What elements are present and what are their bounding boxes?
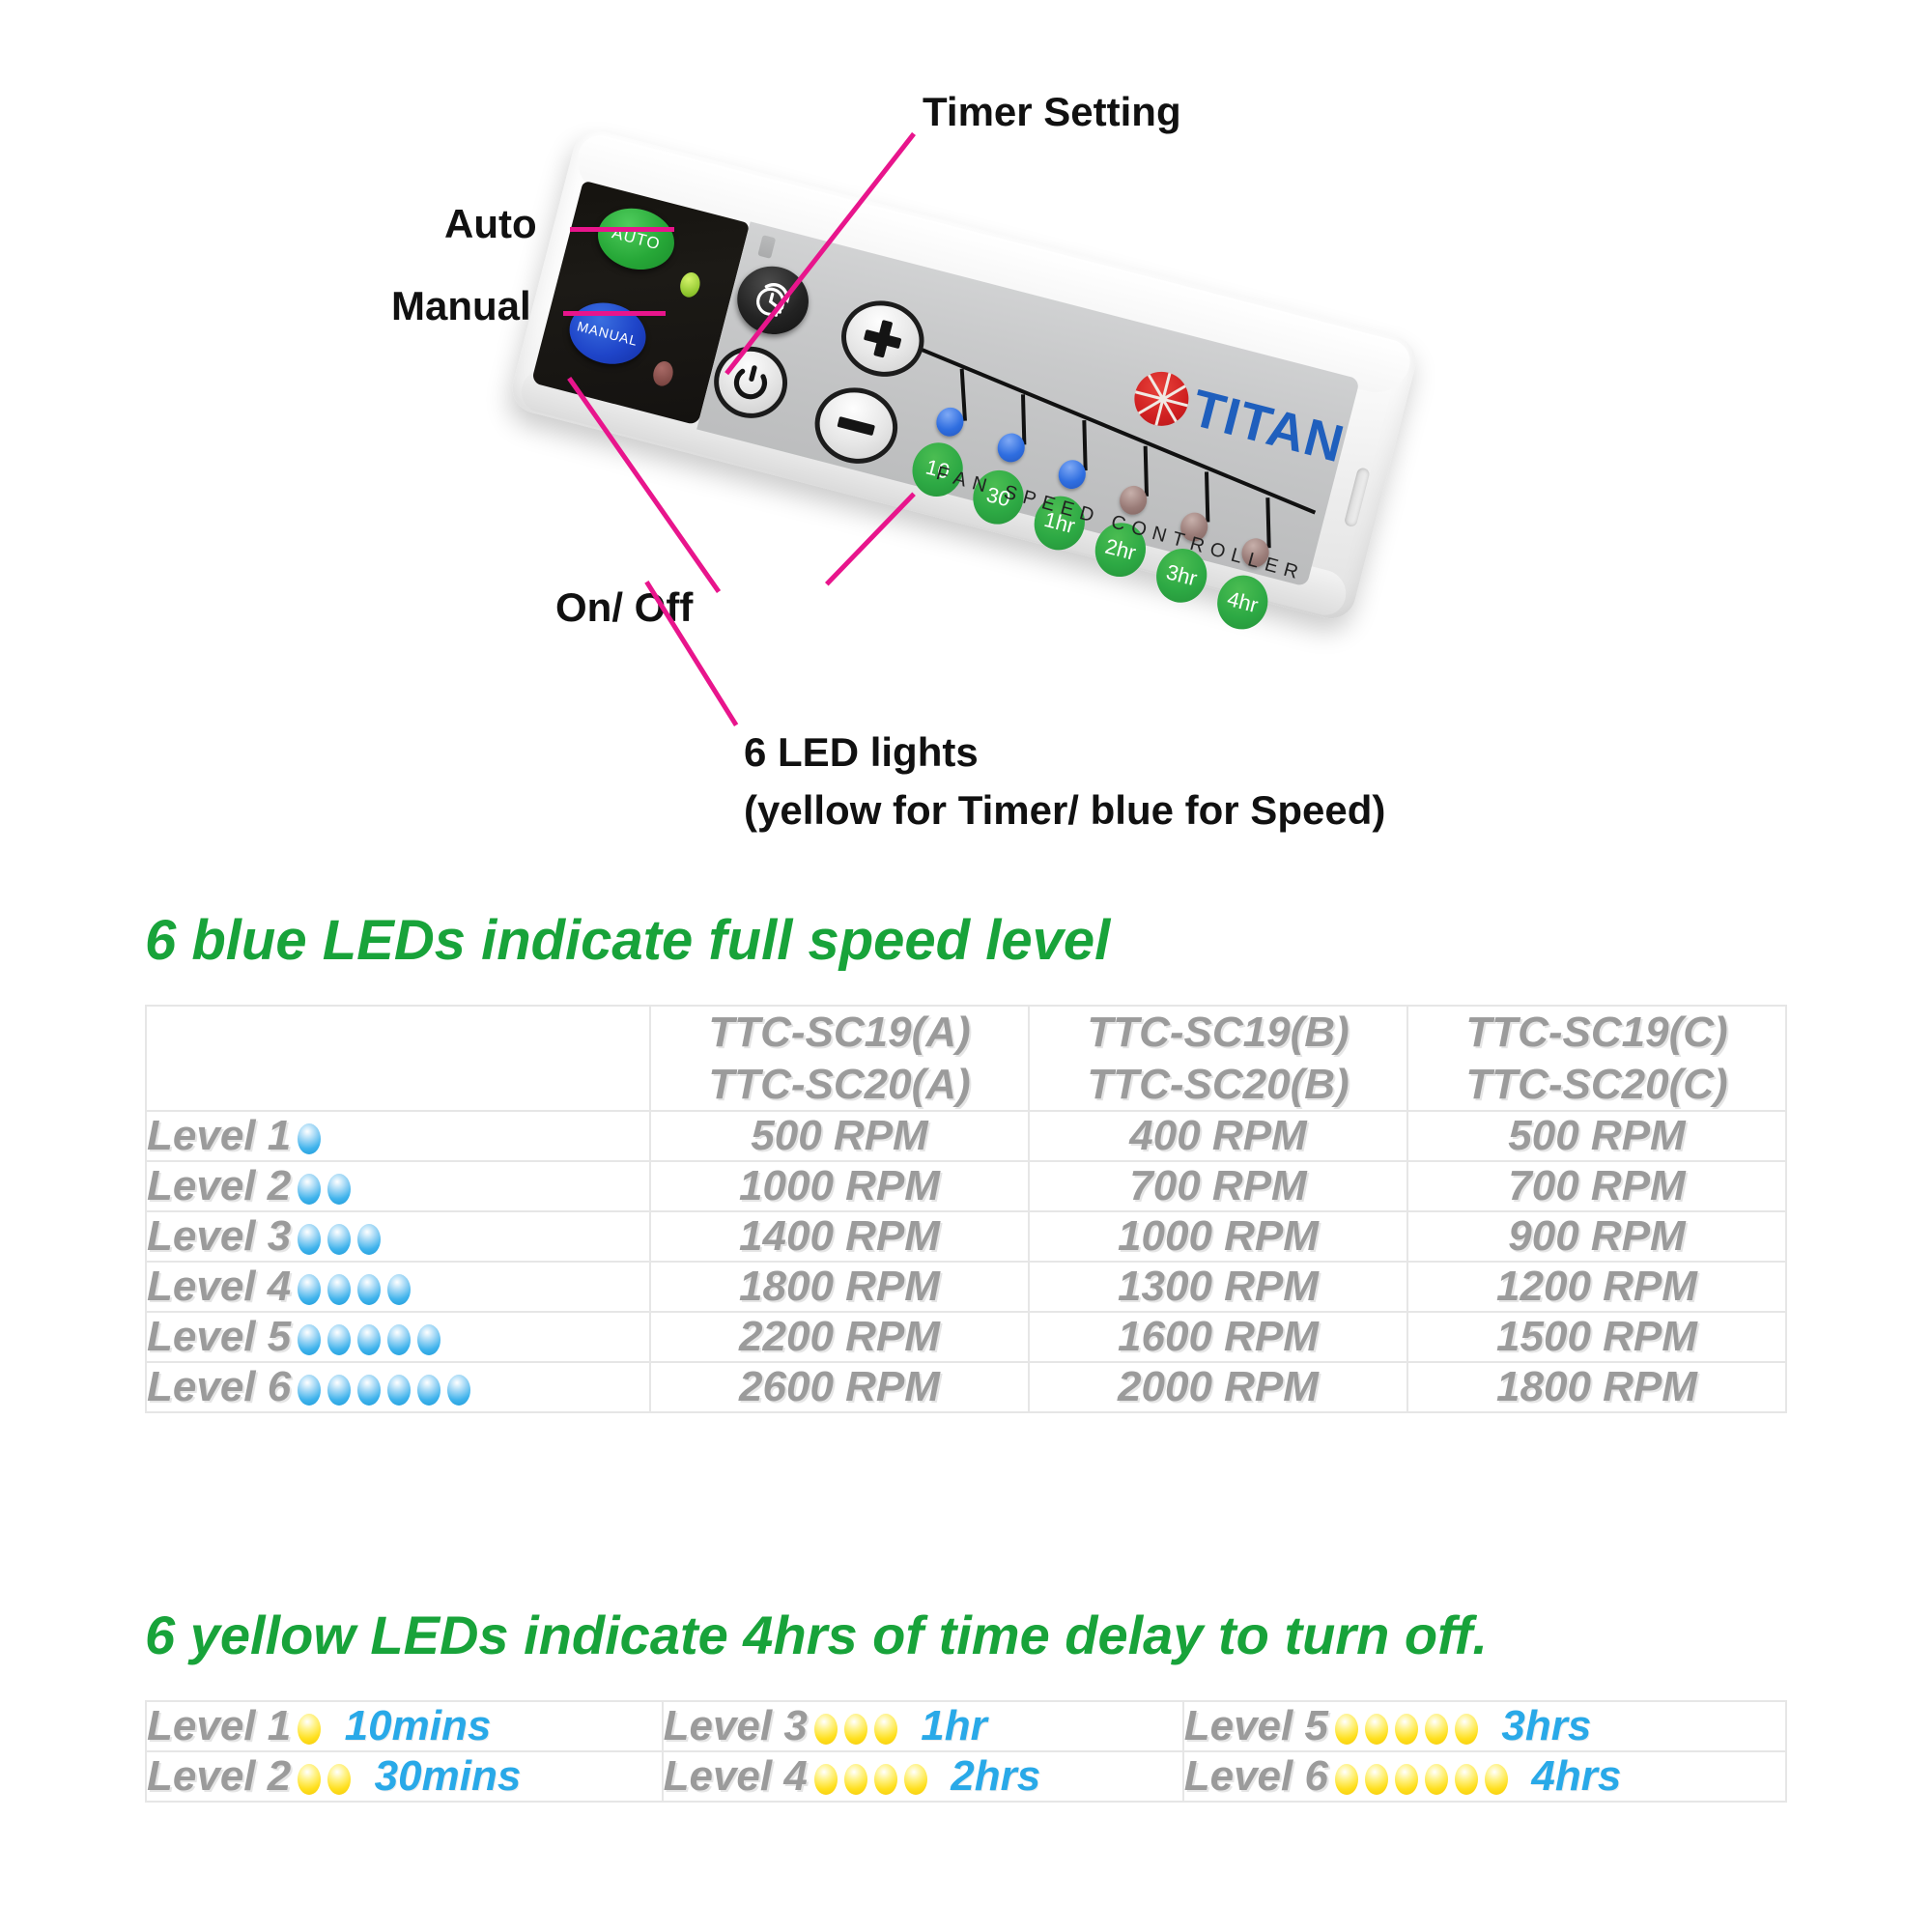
callout-manual: Manual bbox=[391, 283, 531, 329]
timer-level-cell: Level 1 10mins bbox=[146, 1701, 663, 1751]
speed-level-cell: Level 2 bbox=[146, 1161, 650, 1211]
speed-rpm-b: 700 RPM bbox=[1029, 1161, 1407, 1211]
timer-badge-label: 3hr bbox=[1164, 559, 1200, 591]
led-dot bbox=[298, 1714, 321, 1745]
led-dot bbox=[298, 1375, 321, 1406]
speed-level-label: Level 1 bbox=[147, 1112, 291, 1159]
speed-rpm-a: 2200 RPM bbox=[650, 1312, 1029, 1362]
timer-level-cell: Level 4 2hrs bbox=[663, 1751, 1183, 1802]
table-row: Level 21000 RPM700 RPM700 RPM bbox=[146, 1161, 1786, 1211]
lead-line-3 bbox=[1082, 420, 1087, 470]
led-dot bbox=[1425, 1714, 1448, 1745]
product-photo-panel: AUTO MANUAL bbox=[0, 0, 1932, 869]
table-row: Level 52200 RPM1600 RPM1500 RPM bbox=[146, 1312, 1786, 1362]
led-dot-group bbox=[291, 1764, 351, 1795]
speed-rpm-c: 500 RPM bbox=[1407, 1111, 1786, 1161]
led-dot-group bbox=[291, 1363, 470, 1411]
led-dot bbox=[1365, 1764, 1388, 1795]
speed-level-label: Level 6 bbox=[147, 1363, 291, 1410]
speed-header-a: TTC-SC19(A) TTC-SC20(A) bbox=[650, 1006, 1029, 1111]
speed-rpm-a: 1000 RPM bbox=[650, 1161, 1029, 1211]
led-dot bbox=[357, 1324, 381, 1355]
timer-badge-label: 4hr bbox=[1225, 586, 1261, 618]
led-dot-group bbox=[291, 1313, 440, 1361]
speed-rpm-c: 900 RPM bbox=[1407, 1211, 1786, 1262]
led-dot bbox=[387, 1274, 411, 1305]
led-dot bbox=[814, 1714, 838, 1745]
table-row: Level 1500 RPM400 RPM500 RPM bbox=[146, 1111, 1786, 1161]
timer-level-cell: Level 5 3hrs bbox=[1183, 1701, 1786, 1751]
table-row: Level 2 30minsLevel 4 2hrsLevel 6 4hrs bbox=[146, 1751, 1786, 1802]
timer-level-label: Level 4 bbox=[664, 1752, 808, 1800]
panel-slot-mark bbox=[757, 235, 776, 259]
led-dot bbox=[844, 1764, 867, 1795]
speed-header-c: TTC-SC19(C) TTC-SC20(C) bbox=[1407, 1006, 1786, 1111]
timer-level-table: Level 1 10minsLevel 3 1hrLevel 5 3hrsLev… bbox=[145, 1700, 1787, 1803]
led-dot-group bbox=[808, 1764, 927, 1795]
led-dot bbox=[1485, 1764, 1508, 1795]
speed-rpm-b: 400 RPM bbox=[1029, 1111, 1407, 1161]
timer-level-label: Level 1 bbox=[147, 1702, 291, 1749]
table-row: Level 41800 RPM1300 RPM1200 RPM bbox=[146, 1262, 1786, 1312]
timer-level-label: Level 3 bbox=[664, 1702, 808, 1749]
callout-line-manual bbox=[563, 311, 666, 316]
callout-timer-setting: Timer Setting bbox=[923, 89, 1181, 135]
led-dot-group bbox=[1328, 1714, 1478, 1745]
led-dot bbox=[327, 1174, 351, 1205]
lead-line-6 bbox=[1265, 497, 1270, 548]
led-dot bbox=[298, 1324, 321, 1355]
led-dot-group bbox=[1328, 1764, 1508, 1795]
speed-level-table: TTC-SC19(A) TTC-SC20(A) TTC-SC19(B) TTC-… bbox=[145, 1005, 1787, 1413]
speed-rpm-a: 500 RPM bbox=[650, 1111, 1029, 1161]
led-dot bbox=[357, 1224, 381, 1255]
speed-level-label: Level 2 bbox=[147, 1162, 291, 1209]
timer-duration-value: 1hr bbox=[897, 1702, 987, 1749]
callout-auto: Auto bbox=[444, 201, 537, 247]
led-dot bbox=[1425, 1764, 1448, 1795]
speed-rpm-a: 1400 RPM bbox=[650, 1211, 1029, 1262]
lead-line-5 bbox=[1205, 471, 1209, 522]
speed-rpm-c: 700 RPM bbox=[1407, 1161, 1786, 1211]
led-dot bbox=[1455, 1714, 1478, 1745]
led-dot bbox=[298, 1174, 321, 1205]
speed-header-a-line1: TTC-SC19(A) bbox=[651, 1007, 1028, 1059]
led-dot bbox=[357, 1274, 381, 1305]
speed-header-c-line2: TTC-SC20(C) bbox=[1408, 1059, 1785, 1111]
speed-rpm-b: 1000 RPM bbox=[1029, 1211, 1407, 1262]
speed-level-cell: Level 5 bbox=[146, 1312, 650, 1362]
speed-level-cell: Level 6 bbox=[146, 1362, 650, 1412]
callout-line-auto bbox=[570, 227, 674, 232]
led-dot-group bbox=[291, 1112, 321, 1160]
speed-header-b: TTC-SC19(B) TTC-SC20(B) bbox=[1029, 1006, 1407, 1111]
timer-duration-value: 2hrs bbox=[927, 1752, 1040, 1800]
lead-line-4 bbox=[1144, 446, 1149, 497]
led-dot bbox=[1335, 1714, 1358, 1745]
led-dot bbox=[447, 1375, 470, 1406]
led-dot-group bbox=[808, 1714, 897, 1745]
timer-duration-value: 30mins bbox=[351, 1752, 521, 1800]
timer-duration-value: 4hrs bbox=[1508, 1752, 1621, 1800]
speed-header-a-line2: TTC-SC20(A) bbox=[651, 1059, 1028, 1111]
led-dot bbox=[904, 1764, 927, 1795]
led-dot-group bbox=[291, 1714, 321, 1745]
speed-table-header-row: TTC-SC19(A) TTC-SC20(A) TTC-SC19(B) TTC-… bbox=[146, 1006, 1786, 1111]
titan-logo-icon bbox=[1128, 366, 1194, 432]
timer-level-label: Level 5 bbox=[1184, 1702, 1328, 1749]
manual-button[interactable]: MANUAL bbox=[563, 295, 653, 372]
speed-rpm-a: 1800 RPM bbox=[650, 1262, 1029, 1312]
timer-level-cell: Level 3 1hr bbox=[663, 1701, 1183, 1751]
manual-status-led bbox=[651, 359, 676, 388]
led-dot bbox=[844, 1714, 867, 1745]
speed-decrease-button[interactable] bbox=[807, 379, 906, 472]
led-dot bbox=[298, 1123, 321, 1154]
led-dot-group bbox=[291, 1212, 381, 1261]
speed-rpm-a: 2600 RPM bbox=[650, 1362, 1029, 1412]
lead-line-2 bbox=[1021, 394, 1026, 444]
led-dot bbox=[417, 1375, 440, 1406]
led-dot bbox=[1455, 1764, 1478, 1795]
brand-name: TITAN bbox=[1186, 378, 1350, 474]
speed-rpm-c: 1800 RPM bbox=[1407, 1362, 1786, 1412]
led-dot bbox=[298, 1274, 321, 1305]
speed-rpm-c: 1200 RPM bbox=[1407, 1262, 1786, 1312]
speed-level-cell: Level 3 bbox=[146, 1211, 650, 1262]
led-dot bbox=[327, 1764, 351, 1795]
speed-header-b-line1: TTC-SC19(B) bbox=[1030, 1007, 1406, 1059]
timer-duration-value: 10mins bbox=[321, 1702, 491, 1749]
speed-rpm-b: 1300 RPM bbox=[1029, 1262, 1407, 1312]
led-dot-group bbox=[291, 1263, 411, 1311]
timer-clock-icon bbox=[745, 272, 801, 328]
callout-leds-line2: (yellow for Timer/ blue for Speed) bbox=[744, 787, 1385, 834]
speed-level-label: Level 4 bbox=[147, 1263, 291, 1310]
minus-icon bbox=[838, 416, 876, 436]
table-row: Level 62600 RPM2000 RPM1800 RPM bbox=[146, 1362, 1786, 1412]
led-dot bbox=[298, 1224, 321, 1255]
led-dot bbox=[327, 1224, 351, 1255]
speed-level-label: Level 3 bbox=[147, 1212, 291, 1260]
timer-level-label: Level 2 bbox=[147, 1752, 291, 1800]
led-dot-group bbox=[291, 1162, 351, 1210]
table-row: Level 31400 RPM1000 RPM900 RPM bbox=[146, 1211, 1786, 1262]
speed-rpm-b: 1600 RPM bbox=[1029, 1312, 1407, 1362]
led-dot bbox=[1395, 1764, 1418, 1795]
led-dot bbox=[298, 1764, 321, 1795]
plus-icon bbox=[864, 329, 902, 349]
timer-section-heading: 6 yellow LEDs indicate 4hrs of time dela… bbox=[145, 1604, 1488, 1666]
led-dot bbox=[814, 1764, 838, 1795]
speed-level-label: Level 5 bbox=[147, 1313, 291, 1360]
speed-rpm-c: 1500 RPM bbox=[1407, 1312, 1786, 1362]
brand-logo: TITAN bbox=[1128, 363, 1350, 475]
power-on-off-button[interactable] bbox=[706, 338, 795, 426]
led-dot bbox=[387, 1324, 411, 1355]
led-dot bbox=[874, 1714, 897, 1745]
led-dot bbox=[327, 1324, 351, 1355]
auto-status-led bbox=[677, 270, 702, 299]
speed-level-cell: Level 1 bbox=[146, 1111, 650, 1161]
speed-increase-button[interactable] bbox=[833, 292, 932, 385]
manual-button-label: MANUAL bbox=[576, 318, 639, 349]
timer-level-cell: Level 2 30mins bbox=[146, 1751, 663, 1802]
speed-rpm-b: 2000 RPM bbox=[1029, 1362, 1407, 1412]
led-dot bbox=[874, 1764, 897, 1795]
speed-header-b-line2: TTC-SC20(B) bbox=[1030, 1059, 1406, 1111]
speed-section-heading: 6 blue LEDs indicate full speed level bbox=[145, 908, 1110, 973]
led-dot bbox=[1365, 1714, 1388, 1745]
led-dot bbox=[1395, 1714, 1418, 1745]
speed-header-blank bbox=[146, 1006, 650, 1111]
led-dot bbox=[357, 1375, 381, 1406]
led-dot bbox=[1335, 1764, 1358, 1795]
led-dot bbox=[387, 1375, 411, 1406]
timer-duration-value: 3hrs bbox=[1478, 1702, 1591, 1749]
callout-leds-line1: 6 LED lights bbox=[744, 729, 979, 776]
speed-level-cell: Level 4 bbox=[146, 1262, 650, 1312]
timer-level-cell: Level 6 4hrs bbox=[1183, 1751, 1786, 1802]
timer-level-label: Level 6 bbox=[1184, 1752, 1328, 1800]
led-dot bbox=[327, 1375, 351, 1406]
led-dot bbox=[417, 1324, 440, 1355]
led-dot bbox=[327, 1274, 351, 1305]
table-row: Level 1 10minsLevel 3 1hrLevel 5 3hrs bbox=[146, 1701, 1786, 1751]
speed-header-c-line1: TTC-SC19(C) bbox=[1408, 1007, 1785, 1059]
auto-button[interactable]: AUTO bbox=[591, 200, 681, 277]
